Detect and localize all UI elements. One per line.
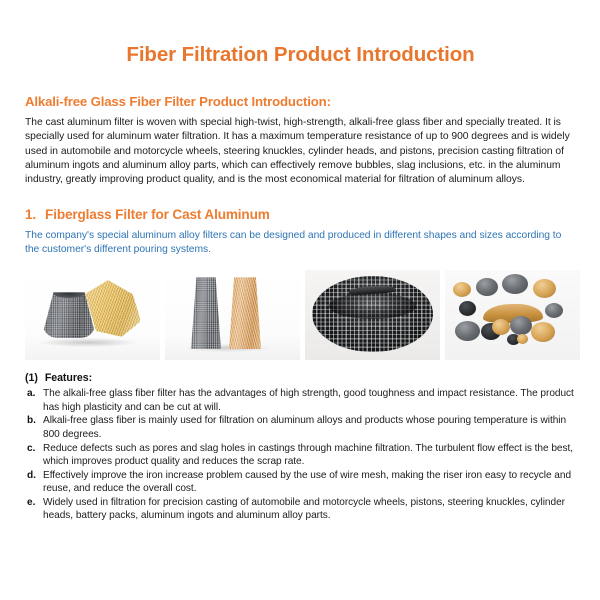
page-title: Fiber Filtration Product Introduction (25, 0, 576, 67)
intro-section-heading: Alkali-free Glass Fiber Filter Product I… (25, 67, 576, 110)
photo-shadow (39, 338, 137, 347)
product-photo-tubular-filters (165, 270, 300, 360)
disc-shape (476, 278, 498, 296)
disc-shape (517, 334, 528, 344)
disc-shape (492, 319, 510, 335)
list-item-marker: d. (25, 469, 43, 496)
list-item-marker: c. (25, 442, 43, 469)
section-one-description: The company's special aluminum alloy fil… (25, 223, 576, 256)
list-item-text: Reduce defects such as pores and slag ho… (43, 442, 576, 469)
document-page: Fiber Filtration Product Introduction Al… (0, 0, 600, 600)
list-item: b. Alkali-free glass fiber is mainly use… (25, 414, 576, 441)
features-label: Features: (45, 372, 92, 384)
product-photo-mesh-disc (305, 270, 440, 360)
section-one-number: 1. (25, 207, 36, 223)
section-one-title: Fiberglass Filter for Cast Aluminum (45, 207, 270, 223)
disc-shape (453, 282, 471, 297)
intro-paragraph: The cast aluminum filter is woven with s… (25, 109, 576, 186)
list-item-marker: a. (25, 387, 43, 414)
disc-shape (459, 301, 476, 316)
disc-shape (510, 316, 532, 335)
disc-shape (455, 321, 480, 341)
disc-shape (533, 279, 556, 298)
features-list: a. The alkali-free glass fiber filter ha… (25, 384, 576, 522)
list-item-text: Effectively improve the iron increase pr… (43, 469, 576, 496)
document-content: Fiber Filtration Product Introduction Al… (0, 0, 600, 522)
list-item: a. The alkali-free glass fiber filter ha… (25, 387, 576, 414)
list-item-text: Widely used in filtration for precision … (43, 496, 576, 523)
product-photo-assorted-discs (445, 270, 580, 360)
list-item-marker: e. (25, 496, 43, 523)
list-item-text: The alkali-free glass fiber filter has t… (43, 387, 576, 414)
tan-tube-filter-shape (229, 277, 261, 349)
features-heading: (1) Features: (25, 360, 576, 384)
list-item-text: Alkali-free glass fiber is mainly used f… (43, 414, 576, 441)
list-item: e. Widely used in filtration for precisi… (25, 496, 576, 523)
disc-shape (545, 303, 563, 318)
product-image-gallery (25, 256, 576, 360)
list-item: c. Reduce defects such as pores and slag… (25, 442, 576, 469)
list-item-marker: b. (25, 414, 43, 441)
grey-tube-filter-shape (191, 277, 221, 349)
disc-shape (531, 322, 555, 342)
section-one-heading: 1. Fiberglass Filter for Cast Aluminum (25, 187, 576, 223)
list-item: d. Effectively improve the iron increase… (25, 469, 576, 496)
product-photo-conical-filters (25, 270, 160, 360)
features-number: (1) (25, 372, 38, 384)
disc-shape (502, 274, 528, 294)
